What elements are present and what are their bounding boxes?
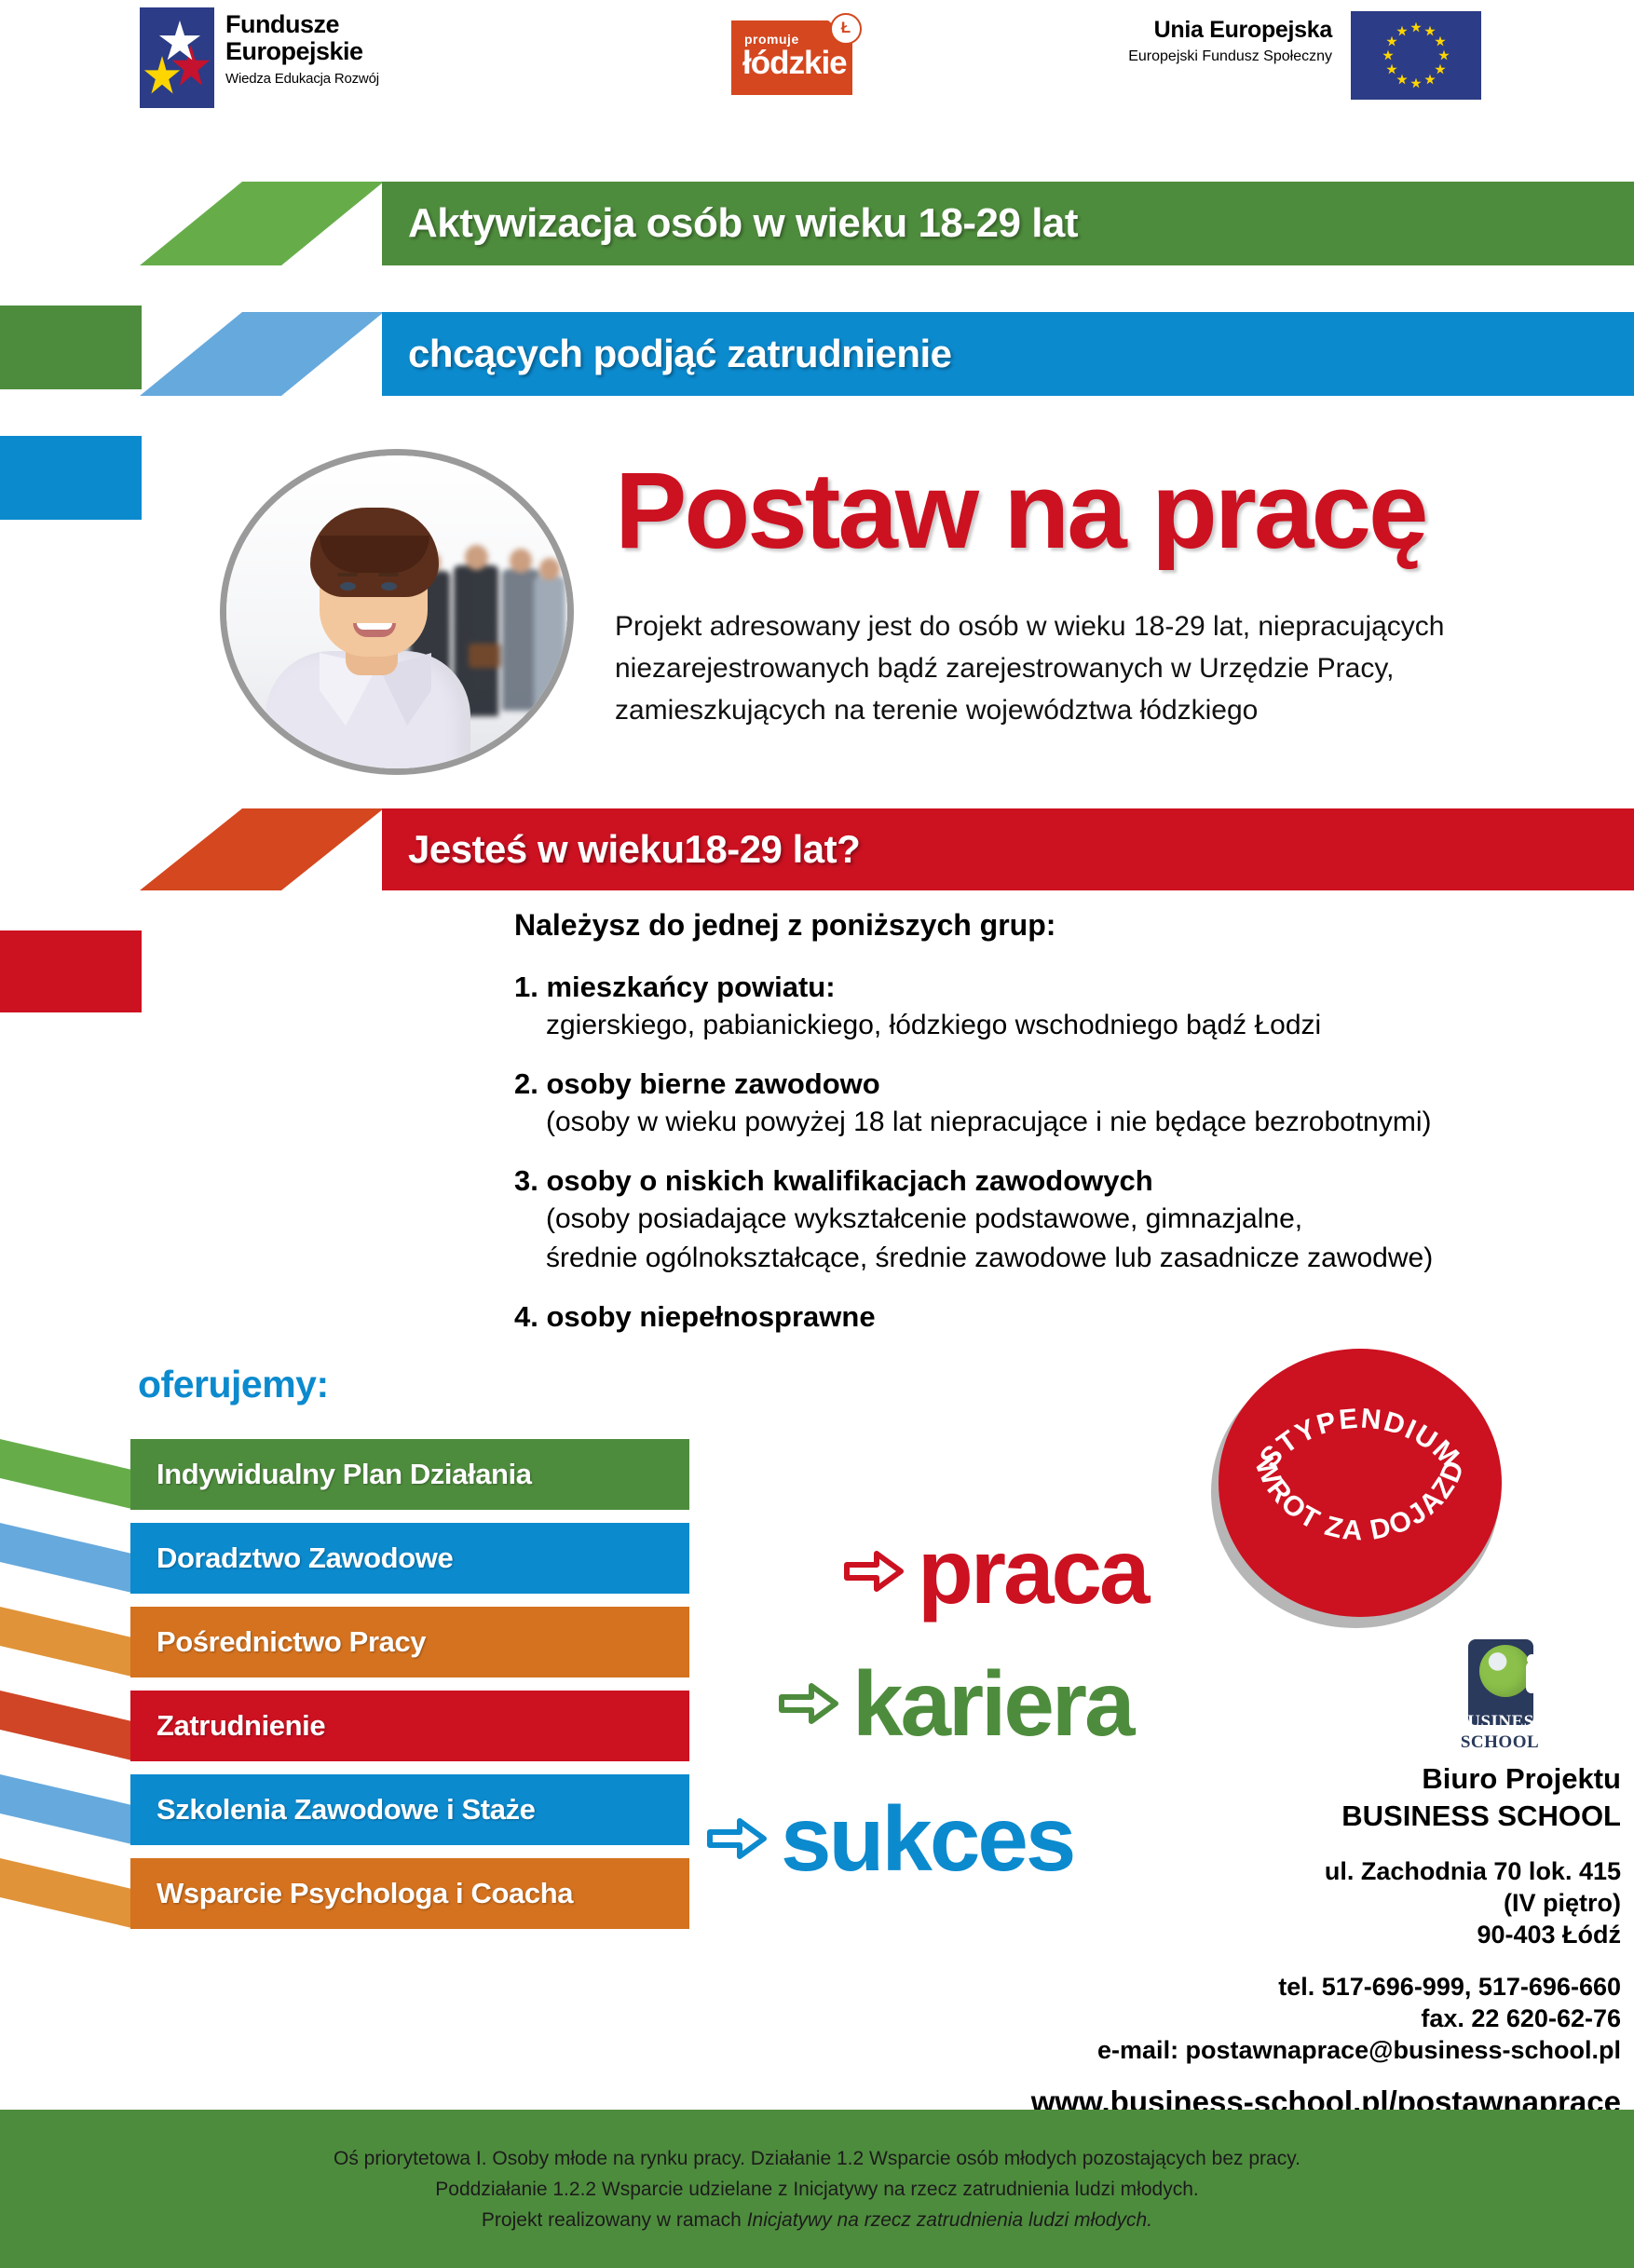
offer-label-6: Wsparcie Psychologa i Coacha	[130, 1877, 573, 1910]
arrow-right-outline-icon	[778, 1680, 839, 1727]
chevron-diagonal-red	[140, 808, 384, 942]
footer-line-3-pre: Projekt realizowany w ramach	[482, 2209, 747, 2231]
group-item-4: 4. osoby niepełnosprawne	[514, 1298, 1623, 1336]
business-school-logo: BUSINESS SCHOOL	[1451, 1639, 1548, 1759]
bs-logo-line2: SCHOOL	[1451, 1732, 1548, 1753]
chevron-tail-blue	[0, 436, 142, 520]
group-3-sub1: (osoby posiadające wykształcenie podstaw…	[514, 1200, 1623, 1239]
offer-wing-4	[0, 1691, 136, 1761]
keyword-praca: praca	[843, 1526, 1148, 1617]
fe-line3: Wiedza Edukacja Rozwój	[225, 71, 379, 87]
footer-line-3: Projekt realizowany w ramach Inicjatywy …	[482, 2205, 1152, 2235]
keyword-praca-label: praca	[918, 1526, 1148, 1617]
offer-list: Indywidualny Plan Działania Doradztwo Za…	[0, 1439, 708, 1942]
banner-red-label: Jesteś w wieku18-29 lat?	[382, 827, 860, 872]
keyword-kariera-label: kariera	[852, 1658, 1133, 1749]
offer-label-2: Doradztwo Zawodowe	[130, 1541, 453, 1575]
offer-label-3: Pośrednictwo Pracy	[130, 1625, 426, 1659]
banner-blue-label: chcących podjąć zatrudnienie	[382, 332, 952, 376]
group-2-sub1: (osoby w wieku powyżej 18 lat niepracują…	[514, 1103, 1623, 1142]
eu-star-icon	[1396, 74, 1408, 85]
contact-addr-2: (IV piętro)	[913, 1887, 1621, 1919]
group-3-head: 3. osoby o niskich kwalifikacjach zawodo…	[514, 1162, 1623, 1200]
offer-wing-5	[0, 1774, 136, 1845]
offer-label-4: Zatrudnienie	[130, 1709, 325, 1743]
chevron-diagonal-green	[140, 182, 384, 317]
eu-flag-icon	[1351, 11, 1481, 100]
chevron-bar-red: Jesteś w wieku18-29 lat?	[382, 808, 1634, 890]
offer-bar-2: Doradztwo Zawodowe	[130, 1523, 689, 1594]
arrow-right-outline-icon	[843, 1548, 905, 1595]
eu-star-icon	[1424, 26, 1436, 37]
offer-label-1: Indywidualny Plan Działania	[130, 1458, 532, 1491]
unia-europejska-logo: Unia Europejska Europejski Fundusz Społe…	[1015, 11, 1491, 104]
eu-star-icon	[1386, 64, 1397, 75]
header-logo-bar: Fundusze Europejskie Wiedza Edukacja Roz…	[0, 0, 1634, 121]
contact-office-2: BUSINESS SCHOOL	[913, 1798, 1621, 1835]
banner-green-label: Aktywizacja osób w wieku 18-29 lat	[382, 200, 1078, 247]
badge-top-text: STYPENDIUM	[1254, 1403, 1465, 1474]
main-title: Postaw na pracę	[615, 458, 1630, 563]
offer-wing-1	[0, 1439, 136, 1510]
eu-star-icon	[1424, 74, 1436, 85]
fe-line2: Europejskie	[225, 38, 379, 65]
ue-line2: Europejski Fundusz Społeczny	[1025, 48, 1332, 65]
eu-star-icon	[1435, 36, 1446, 48]
offer-row-3: Pośrednictwo Pracy	[0, 1607, 708, 1677]
lodzkie-badge-icon: Ł	[830, 13, 862, 45]
offer-row-5: Szkolenia Zawodowe i Staże	[0, 1774, 708, 1845]
group-2-head: 2. osoby bierne zawodowo	[514, 1066, 1623, 1103]
chevron-tail-green	[0, 306, 142, 389]
eu-star-icon	[1386, 36, 1397, 48]
intro-line-3: zamieszkujących na terenie województwa ł…	[615, 689, 1565, 731]
page-title: Postaw na pracę	[615, 458, 1630, 563]
eu-star-icon	[1435, 64, 1446, 75]
group-item-2: 2. osoby bierne zawodowo (osoby w wieku …	[514, 1066, 1623, 1142]
intro-line-1: Projekt adresowany jest do osób w wieku …	[615, 605, 1565, 647]
stypendium-badge: STYPENDIUM ZWROT ZA DOJAZDY	[1211, 1349, 1509, 1628]
eu-star-icon	[1438, 50, 1450, 61]
fe-flag-icon	[140, 7, 214, 108]
group-3-sub2: średnie ogólnokształcące, średnie zawodo…	[514, 1239, 1623, 1278]
chevron-bar-blue: chcących podjąć zatrudnienie	[382, 312, 1634, 396]
eu-star-icon	[1396, 26, 1408, 37]
chevron-tail-red	[0, 930, 142, 1012]
group-item-1: 1. mieszkańcy powiatu: zgierskiego, pabi…	[514, 969, 1623, 1045]
offer-bar-5: Szkolenia Zawodowe i Staże	[130, 1774, 689, 1845]
chevron-bar-green: Aktywizacja osób w wieku 18-29 lat	[382, 182, 1634, 265]
contact-email[interactable]: e-mail: postawnaprace@business-school.pl	[913, 2034, 1621, 2066]
footer-line-1: Oś priorytetowa I. Osoby młode na rynku …	[334, 2143, 1300, 2174]
contact-office-1: Biuro Projektu	[913, 1760, 1621, 1798]
lodzkie-word: łódzkie	[742, 47, 847, 80]
offer-label-5: Szkolenia Zawodowe i Staże	[130, 1793, 535, 1827]
group-1-sub1: zgierskiego, pabianickiego, łódzkiego ws…	[514, 1006, 1623, 1045]
offer-bar-3: Pośrednictwo Pracy	[130, 1607, 689, 1677]
offer-title: oferujemy:	[138, 1363, 329, 1406]
hero-photo-circle	[220, 449, 574, 775]
contact-addr-3: 90-403 Łódź	[913, 1919, 1621, 1950]
intro-paragraph: Projekt adresowany jest do osób w wieku …	[615, 605, 1565, 731]
group-1-head: 1. mieszkańcy powiatu:	[514, 969, 1623, 1006]
woman-portrait	[258, 493, 482, 775]
offer-row-6: Wsparcie Psychologa i Coacha	[0, 1858, 708, 1929]
fundusze-europejskie-logo: Fundusze Europejskie Wiedza Edukacja Roz…	[140, 7, 456, 110]
offer-bar-6: Wsparcie Psychologa i Coacha	[130, 1858, 689, 1929]
footer-bar: Oś priorytetowa I. Osoby młode na rynku …	[0, 2110, 1634, 2268]
person-head-icon	[1527, 1654, 1537, 1664]
footer-line-2: Poddziałanie 1.2.2 Wsparcie udzielane z …	[435, 2174, 1198, 2205]
offer-wing-6	[0, 1858, 136, 1929]
offer-row-4: Zatrudnienie	[0, 1691, 708, 1761]
offer-wing-2	[0, 1523, 136, 1594]
offer-row-1: Indywidualny Plan Działania	[0, 1439, 708, 1510]
chevron-diagonal-blue	[140, 312, 384, 447]
bs-logo-line1: BUSINESS	[1451, 1712, 1548, 1732]
arrow-right-outline-icon	[706, 1815, 768, 1862]
eu-star-icon	[1410, 22, 1422, 34]
fe-line1: Fundusze	[225, 11, 379, 38]
contact-block: Biuro Projektu BUSINESS SCHOOL ul. Zacho…	[913, 1760, 1621, 2122]
footer-line-3-italic: Inicjatywy na rzecz zatrudnienia ludzi m…	[747, 2209, 1152, 2231]
offer-bar-4: Zatrudnienie	[130, 1691, 689, 1761]
offer-bar-1: Indywidualny Plan Działania	[130, 1439, 689, 1510]
person-icon	[1526, 1662, 1537, 1693]
eu-star-icon	[1410, 78, 1422, 89]
globe-icon	[1479, 1645, 1532, 1697]
ue-line1: Unia Europejska	[1025, 17, 1332, 44]
intro-line-2: niezarejestrowanych bądź zarejestrowanyc…	[615, 647, 1565, 689]
groups-list: Należysz do jednej z poniższych grup: 1.…	[514, 908, 1623, 1356]
groups-lead: Należysz do jednej z poniższych grup:	[514, 908, 1623, 943]
promuje-lodzkie-logo: promuje łódzkie Ł	[731, 11, 862, 97]
eu-star-icon	[1382, 50, 1394, 61]
offer-row-2: Doradztwo Zawodowe	[0, 1523, 708, 1594]
contact-tel: tel. 517-696-999, 517-696-660	[913, 1971, 1621, 2003]
contact-addr-1: ul. Zachodnia 70 lok. 415	[913, 1855, 1621, 1887]
offer-wing-3	[0, 1607, 136, 1677]
contact-fax: fax. 22 620-62-76	[913, 2003, 1621, 2034]
group-4-head: 4. osoby niepełnosprawne	[514, 1298, 1623, 1336]
keyword-kariera: kariera	[778, 1658, 1133, 1749]
group-item-3: 3. osoby o niskich kwalifikacjach zawodo…	[514, 1162, 1623, 1278]
